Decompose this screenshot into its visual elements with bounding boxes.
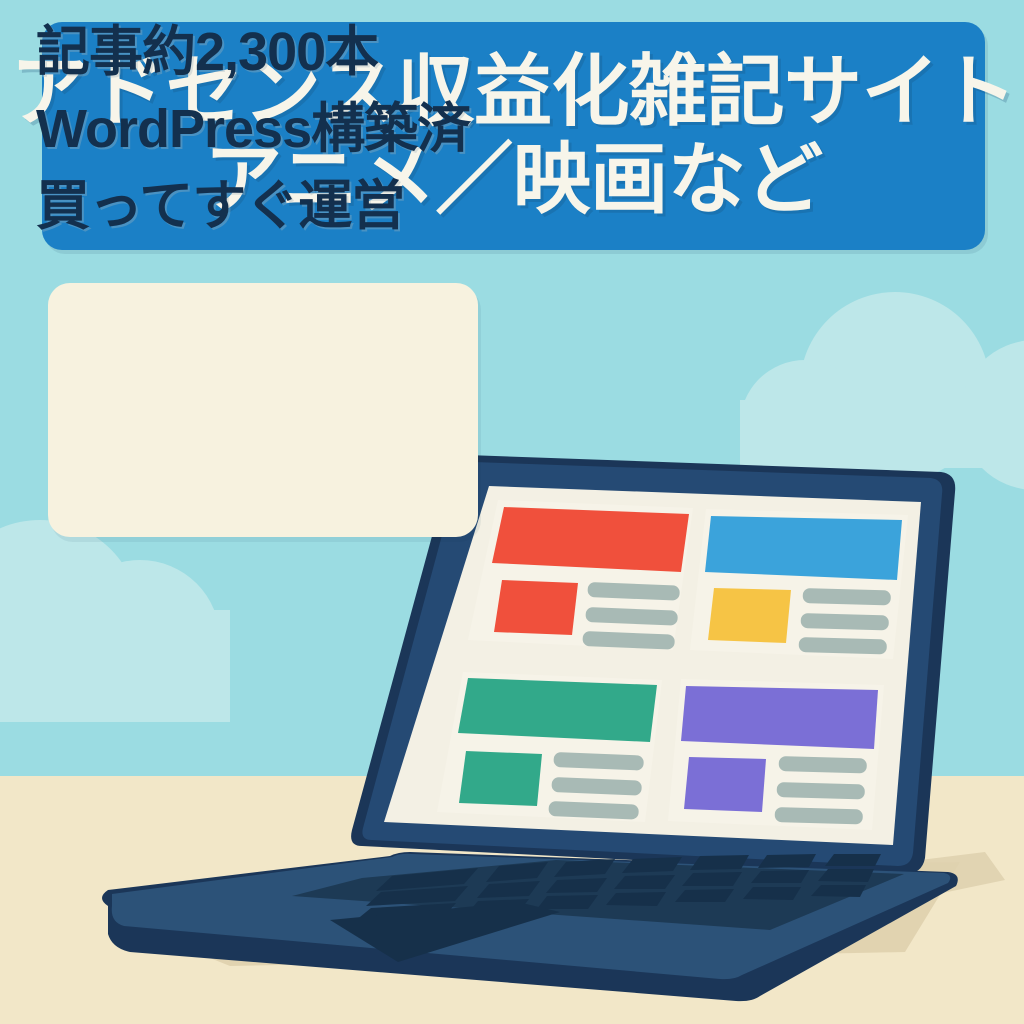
desk-surface bbox=[0, 776, 1024, 1024]
info-line-articles: 記事約2,300本 bbox=[36, 14, 506, 91]
info-card bbox=[48, 283, 478, 537]
info-card-text: 記事約2,300本 WordPress構築済 買ってすぐ運営 bbox=[36, 14, 506, 245]
promo-graphic: アドセンス収益化雑記サイト アニメ／映画など 記事約2,300本 WordPre… bbox=[0, 0, 1024, 1024]
info-line-ready: 買ってすぐ運営 bbox=[36, 168, 506, 245]
info-line-wordpress: WordPress構築済 bbox=[36, 91, 506, 168]
